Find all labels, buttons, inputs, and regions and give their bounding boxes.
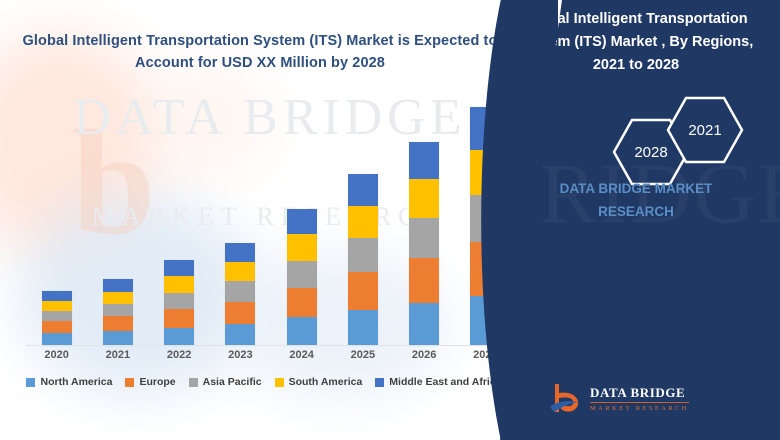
bar-segment[interactable] <box>287 317 317 346</box>
bar-segment[interactable] <box>287 209 317 235</box>
legend-swatch-icon <box>125 378 134 387</box>
stacked-bar[interactable] <box>348 174 378 346</box>
bar-segment[interactable] <box>103 316 133 330</box>
legend-label: Asia Pacific <box>203 376 262 388</box>
bar-slot <box>87 100 148 346</box>
x-axis-labels: 20202021202220232024202520262027 <box>26 349 516 361</box>
bar-segment[interactable] <box>348 310 378 346</box>
legend-label: North America <box>40 376 112 388</box>
bar-segment[interactable] <box>103 279 133 291</box>
bar-segment[interactable] <box>225 324 255 346</box>
bar-segment[interactable] <box>287 234 317 261</box>
bar-segment[interactable] <box>287 288 317 318</box>
stacked-bar[interactable] <box>42 291 72 346</box>
bar-segment[interactable] <box>42 321 72 332</box>
legend-item[interactable]: South America <box>275 376 363 388</box>
bar-slot <box>271 100 332 346</box>
bar-segment[interactable] <box>225 302 255 325</box>
brand-logo-text: DATA BRIDGE MARKET RESEARCH <box>590 385 689 412</box>
bar-segment[interactable] <box>103 292 133 304</box>
hexagon-2021: 2021 <box>666 96 744 164</box>
brand-logo: DATA BRIDGE MARKET RESEARCH <box>548 381 689 415</box>
x-axis-label: 2025 <box>332 349 393 361</box>
bar-segment[interactable] <box>103 304 133 316</box>
legend-item[interactable]: Asia Pacific <box>189 376 262 388</box>
legend-label: Europe <box>139 376 175 388</box>
bar-segment[interactable] <box>348 174 378 206</box>
bar-slot <box>149 100 210 346</box>
x-axis-label: 2021 <box>87 349 148 361</box>
bar-slot <box>26 100 87 346</box>
bar-segment[interactable] <box>103 331 133 346</box>
bar-segment[interactable] <box>164 293 194 309</box>
x-axis-label: 2023 <box>210 349 271 361</box>
stacked-bar[interactable] <box>225 243 255 347</box>
legend-label: South America <box>289 376 363 388</box>
bar-segment[interactable] <box>225 281 255 302</box>
legend-item[interactable]: North America <box>26 376 112 388</box>
stacked-bar[interactable] <box>287 209 317 346</box>
bar-segment[interactable] <box>409 258 439 303</box>
infographic-root: b DATA BRIDGE MARKET RESEARCH Global Int… <box>0 0 780 440</box>
hexagon-group: 2028 2021 <box>522 96 752 188</box>
bar-segment[interactable] <box>42 301 72 311</box>
brand-logo-name: DATA BRIDGE <box>590 385 689 403</box>
bar-segment[interactable] <box>164 260 194 276</box>
bar-group <box>26 100 516 346</box>
bar-segment[interactable] <box>409 218 439 258</box>
bar-segment[interactable] <box>287 261 317 288</box>
chart-plot-area <box>26 100 516 346</box>
legend-item[interactable]: Middle East and Africa <box>375 376 501 388</box>
legend-swatch-icon <box>26 378 35 387</box>
bar-segment[interactable] <box>348 206 378 239</box>
chart-title: Global Intelligent Transportation System… <box>0 30 520 75</box>
bar-segment[interactable] <box>42 311 72 321</box>
bar-segment[interactable] <box>164 309 194 327</box>
x-axis-label: 2026 <box>394 349 455 361</box>
legend-swatch-icon <box>189 378 198 387</box>
bar-segment[interactable] <box>225 262 255 281</box>
x-axis-label: 2020 <box>26 349 87 361</box>
brand-logo-mark-icon <box>548 381 582 415</box>
legend-swatch-icon <box>375 378 384 387</box>
legend-label: Middle East and Africa <box>389 376 501 388</box>
bar-slot <box>394 100 455 346</box>
bar-segment[interactable] <box>409 179 439 218</box>
chart-legend: North AmericaEuropeAsia PacificSouth Ame… <box>0 376 528 388</box>
bar-segment[interactable] <box>164 328 194 346</box>
hexagon-2021-label: 2021 <box>666 96 744 164</box>
bar-segment[interactable] <box>225 243 255 262</box>
x-axis-label: 2024 <box>271 349 332 361</box>
stacked-bar[interactable] <box>164 260 194 346</box>
stacked-bar[interactable] <box>103 279 133 346</box>
bar-segment[interactable] <box>348 272 378 310</box>
brand-logo-tagline: MARKET RESEARCH <box>590 405 689 412</box>
legend-item[interactable]: Europe <box>125 376 175 388</box>
bar-segment[interactable] <box>42 333 72 346</box>
bar-segment[interactable] <box>409 303 439 346</box>
bar-segment[interactable] <box>409 142 439 179</box>
bar-segment[interactable] <box>42 291 72 301</box>
bar-segment[interactable] <box>348 238 378 272</box>
legend-swatch-icon <box>275 378 284 387</box>
bar-slot <box>210 100 271 346</box>
bar-segment[interactable] <box>164 276 194 292</box>
x-axis-label: 2022 <box>149 349 210 361</box>
bar-slot <box>332 100 393 346</box>
stacked-bar[interactable] <box>409 142 439 346</box>
x-axis-line <box>26 345 518 346</box>
